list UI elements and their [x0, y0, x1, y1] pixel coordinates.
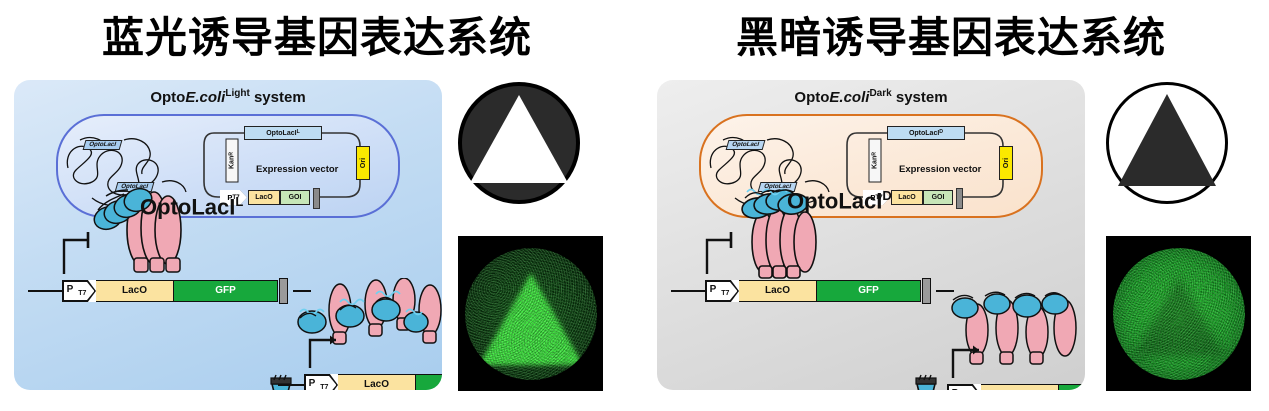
t7-promoter-active: PT7	[304, 374, 338, 390]
photomask-dark-system	[1106, 82, 1228, 204]
panel-light-system: OptoE.coliLight system OptoLacI OptoLacI…	[14, 80, 442, 390]
lac-operator-repressed: LacO	[96, 280, 174, 302]
optogenetic-systems-figure: 蓝光诱导基因表达系统 黑暗诱导基因表达系统 OptoE.coliLight sy…	[0, 0, 1269, 411]
lac-operator-active: LacO	[338, 374, 416, 390]
terminator-repressed	[279, 278, 288, 304]
panel-title-suffix: system	[896, 89, 948, 106]
panel-title-suffix: system	[254, 89, 306, 106]
gfp-reporter-repressed: GFP	[174, 280, 278, 302]
plasmid-origin-of-replication: Ori	[999, 146, 1013, 180]
transcription-blocked-icon	[58, 226, 108, 278]
reporter-cassette-repressed: PT7 LacO GFP	[705, 280, 931, 302]
plasmid-name-label: Expression vector	[256, 164, 338, 175]
reporter-cassette-repressed: PT7 LacO GFP	[62, 280, 288, 302]
page-title-dark-system: 黑暗诱导基因表达系统	[634, 4, 1268, 65]
gfp-reporter-active: GFP	[416, 374, 442, 390]
plasmid-terminator-icon	[956, 188, 963, 209]
transcription-active-arrow-icon	[947, 342, 993, 382]
operator-tag-optolaci: OptoLacI	[83, 140, 123, 150]
panel-title-light: OptoE.coliLight system	[14, 88, 442, 106]
panel-title-dark: OptoE.coliDark system	[657, 88, 1085, 106]
mask-triangle-blocker	[1118, 94, 1216, 186]
lac-operator-repressed: LacO	[739, 280, 817, 302]
plasmid-gene-of-interest: GOI	[280, 190, 310, 205]
panel-title-species: E.coli	[829, 89, 869, 106]
plasmid-optolaci-cassette: OptoLacID	[887, 126, 965, 140]
mask-triangle-aperture	[470, 95, 568, 183]
gfp-reporter-active: GFP	[1059, 384, 1085, 390]
panel-title-prefix: Opto	[794, 89, 829, 106]
terminator-repressed	[922, 278, 931, 304]
petri-dish-image	[1113, 248, 1245, 380]
lac-operator-active: LacO	[981, 384, 1059, 390]
plasmid-kanamycin-marker: KanR	[226, 139, 239, 183]
plasmid-origin-of-replication: Ori	[356, 146, 370, 180]
plasmid-optolaci-cassette: OptoLacIL	[244, 126, 322, 140]
petri-dish-image	[465, 248, 597, 380]
t7-promoter-repressed: PT7	[62, 280, 96, 302]
plasmid-lac-operator: LacO	[891, 190, 923, 205]
blue-led-on-icon	[264, 375, 292, 390]
gfp-reporter-repressed: GFP	[817, 280, 921, 302]
plasmid-lac-operator: LacO	[248, 190, 280, 205]
plasmid-kanamycin-marker: KanR	[869, 139, 882, 183]
panel-title-superscript: Dark	[869, 88, 891, 99]
fluorescence-plate-dark-system	[1106, 236, 1251, 391]
plasmid-name-label: Expression vector	[899, 164, 981, 175]
panel-title-superscript: Light	[225, 88, 249, 99]
reporter-cassette-active: PT7 LacO GFP	[304, 374, 442, 390]
plasmid-gene-of-interest: GOI	[923, 190, 953, 205]
panel-dark-system: OptoE.coliDark system OptoLacI OptoLacI …	[657, 80, 1085, 390]
operator-tag-optolaci: OptoLacI	[726, 140, 766, 150]
plasmid-terminator-icon	[313, 188, 320, 209]
transcription-blocked-icon	[701, 226, 751, 278]
protein-label-optolaci-dark: OptoLacID	[787, 188, 892, 214]
photomask-light-system	[458, 82, 580, 204]
reporter-cassette-active: PT7 LacO GFP	[947, 384, 1085, 390]
fluorescence-plate-light-system	[458, 236, 603, 391]
blue-led-on-icon	[903, 375, 936, 390]
page-title-light-system: 蓝光诱导基因表达系统	[0, 4, 634, 65]
protein-label-optolaci-light: OptoLacIL	[140, 194, 243, 220]
t7-promoter-active: PT7	[947, 384, 981, 390]
transcription-active-arrow-icon	[304, 332, 350, 372]
t7-promoter-repressed: PT7	[705, 280, 739, 302]
panel-title-prefix: Opto	[150, 89, 185, 106]
panel-title-species: E.coli	[185, 89, 225, 106]
